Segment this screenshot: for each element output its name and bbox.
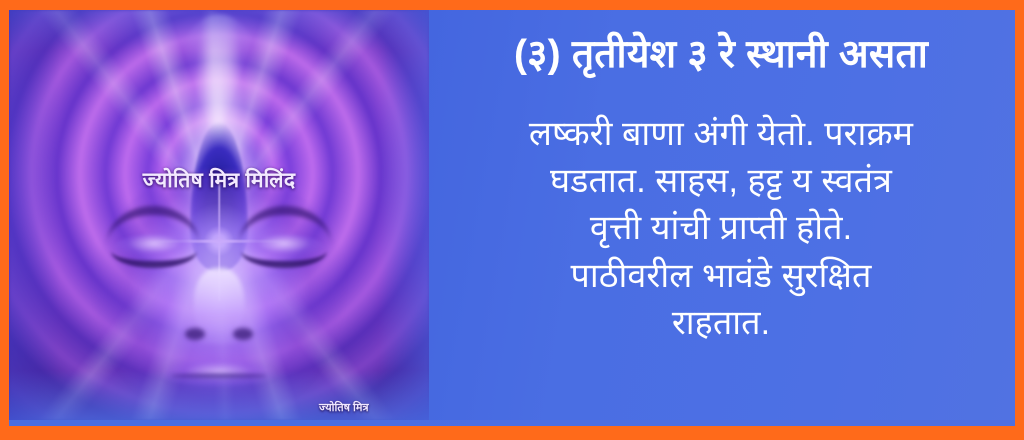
closed-eye-right [241, 234, 327, 268]
body-text-block: लष्करी बाणा अंगी येतो. पराक्रम घडतात. सा… [529, 112, 913, 345]
artwork-layers [9, 10, 429, 420]
slide-content: ज्योतिष मित्र मिलिंद ज्योतिष मित्र (३) त… [9, 10, 1015, 426]
body-line: लष्करी बाणा अंगी येतो. पराक्रम [529, 112, 913, 156]
body-line: राहतात. [672, 301, 770, 345]
text-panel: (३) तृतीयेश ३ रे स्थानी असता लष्करी बाणा… [429, 10, 1015, 420]
page-title: (३) तृतीयेश ३ रे स्थानी असता [514, 32, 928, 78]
body-line: वृत्ती यांची प्राप्ती होते. [590, 206, 852, 250]
watermark-small: ज्योतिष मित्र [319, 400, 369, 415]
slide-frame: ज्योतिष मित्र मिलिंद ज्योतिष मित्र (३) त… [0, 0, 1024, 440]
nostril-left [185, 328, 205, 340]
body-line: घडतात. साहस, हट्ट य स्वतंत्र [550, 159, 892, 203]
spiritual-artwork-image: ज्योतिष मित्र मिलिंद ज्योतिष मित्र [9, 10, 429, 420]
meditating-face [9, 170, 429, 420]
lip-line [171, 374, 267, 378]
body-line: पाठीवरील भावंडे सुरक्षित [571, 254, 872, 298]
watermark-main: ज्योतिष मित्र मिलिंद [143, 166, 296, 194]
nostril-right [233, 328, 253, 340]
closed-eye-left [111, 234, 197, 268]
